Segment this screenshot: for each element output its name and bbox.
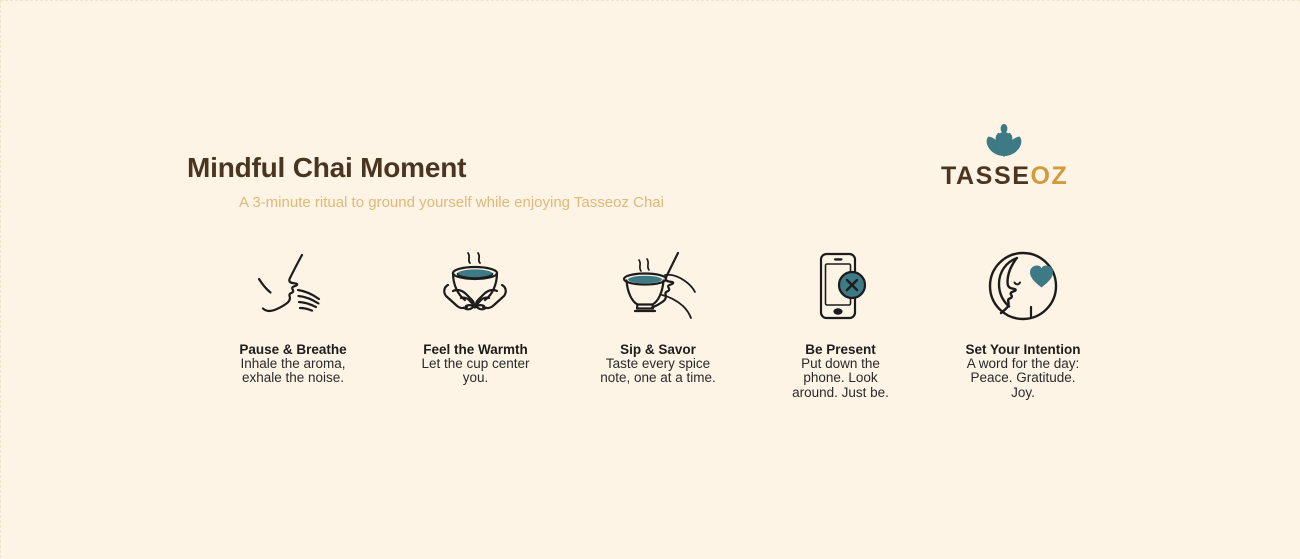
- below-fold-cutoff-text: [1, 554, 1300, 559]
- lotus-leaf-emblem-icon: [941, 123, 1067, 159]
- brand-name: TASSEOZ: [941, 164, 1067, 189]
- cup-with-face-sipping-icon: [598, 249, 718, 323]
- brand-logo: TASSEOZ: [941, 123, 1067, 189]
- brand-name-primary: TASSE: [941, 162, 1031, 190]
- step-title: Set Your Intention: [963, 343, 1083, 357]
- step-description: Taste every spice note, one at a time.: [598, 357, 718, 385]
- step-description: Let the cup center you.: [416, 357, 536, 385]
- step-sip-and-savor: Sip & Savor Taste every spice note, one …: [598, 249, 718, 386]
- step-be-present: Be Present Put down the phone. Look arou…: [781, 249, 901, 400]
- poster-header: Mindful Chai Moment A 3-minute ritual to…: [187, 153, 1007, 212]
- page-title: Mindful Chai Moment: [187, 153, 1007, 184]
- phone-no-entry-icon: [781, 249, 901, 323]
- ritual-steps-row: Pause & Breathe Inhale the aroma, exhale…: [233, 249, 1083, 400]
- step-title: Sip & Savor: [598, 343, 718, 357]
- step-title: Pause & Breathe: [233, 343, 353, 357]
- step-pause-and-breathe: Pause & Breathe Inhale the aroma, exhale…: [233, 249, 353, 386]
- step-title: Feel the Warmth: [416, 343, 536, 357]
- poster-canvas: Mindful Chai Moment A 3-minute ritual to…: [0, 0, 1300, 558]
- head-with-heart-icon: [963, 249, 1083, 323]
- step-title: Be Present: [781, 343, 901, 357]
- page-subtitle: A 3-minute ritual to ground yourself whi…: [239, 194, 1007, 212]
- brand-name-accent: OZ: [1031, 162, 1069, 190]
- step-set-your-intention: Set Your Intention A word for the day: P…: [963, 249, 1083, 400]
- breathing-face-profile-icon: [233, 249, 353, 323]
- step-description: Put down the phone. Look around. Just be…: [781, 357, 901, 400]
- hands-holding-cup-icon: [416, 249, 536, 323]
- step-description: Inhale the aroma, exhale the noise.: [233, 357, 353, 385]
- step-feel-the-warmth: Feel the Warmth Let the cup center you.: [416, 249, 536, 386]
- step-description: A word for the day: Peace. Gratitude. Jo…: [963, 357, 1083, 400]
